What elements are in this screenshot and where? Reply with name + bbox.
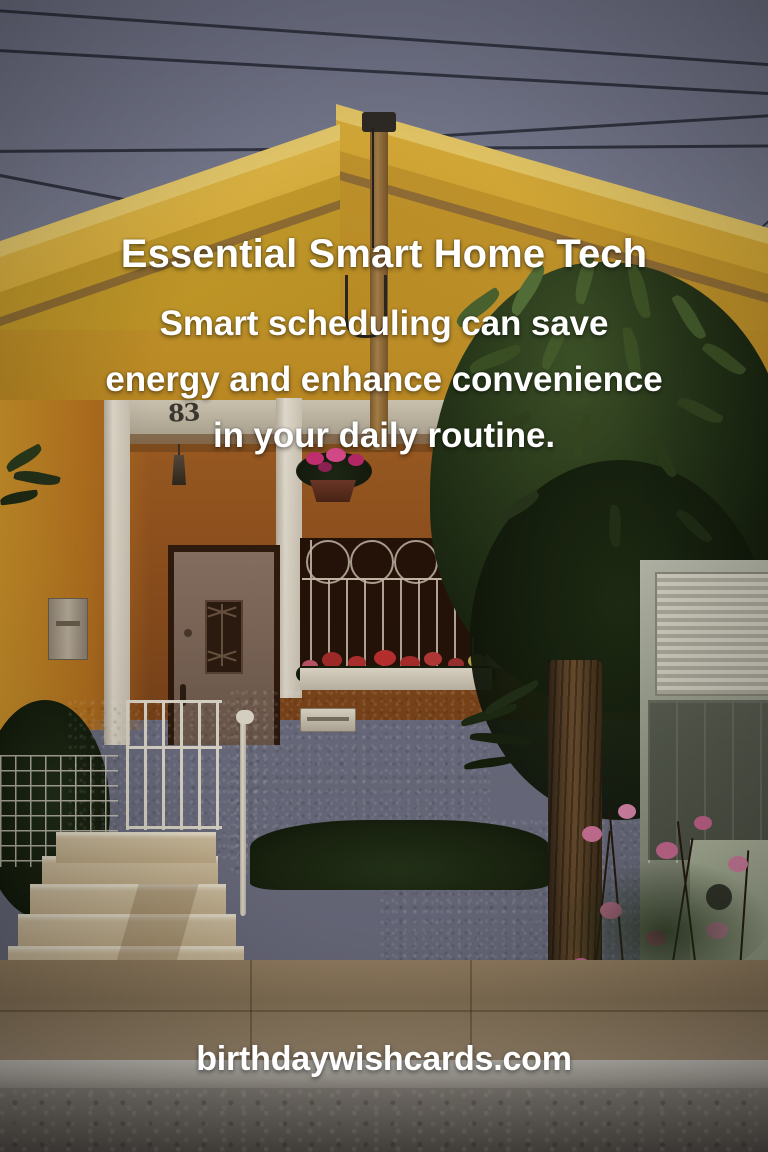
page-subtitle: Smart scheduling can save energy and enh… (42, 296, 726, 464)
subtitle-line-1: Smart scheduling can save (42, 296, 726, 352)
subtitle-line-2: energy and enhance convenience (42, 352, 726, 408)
site-watermark: birthdaywishcards.com (0, 1040, 768, 1079)
pinterest-style-image-card: 83 (0, 0, 768, 1152)
text-overlay: Essential Smart Home Tech Smart scheduli… (0, 0, 768, 1152)
page-title: Essential Smart Home Tech (0, 232, 768, 277)
subtitle-line-3: in your daily routine. (42, 408, 726, 464)
